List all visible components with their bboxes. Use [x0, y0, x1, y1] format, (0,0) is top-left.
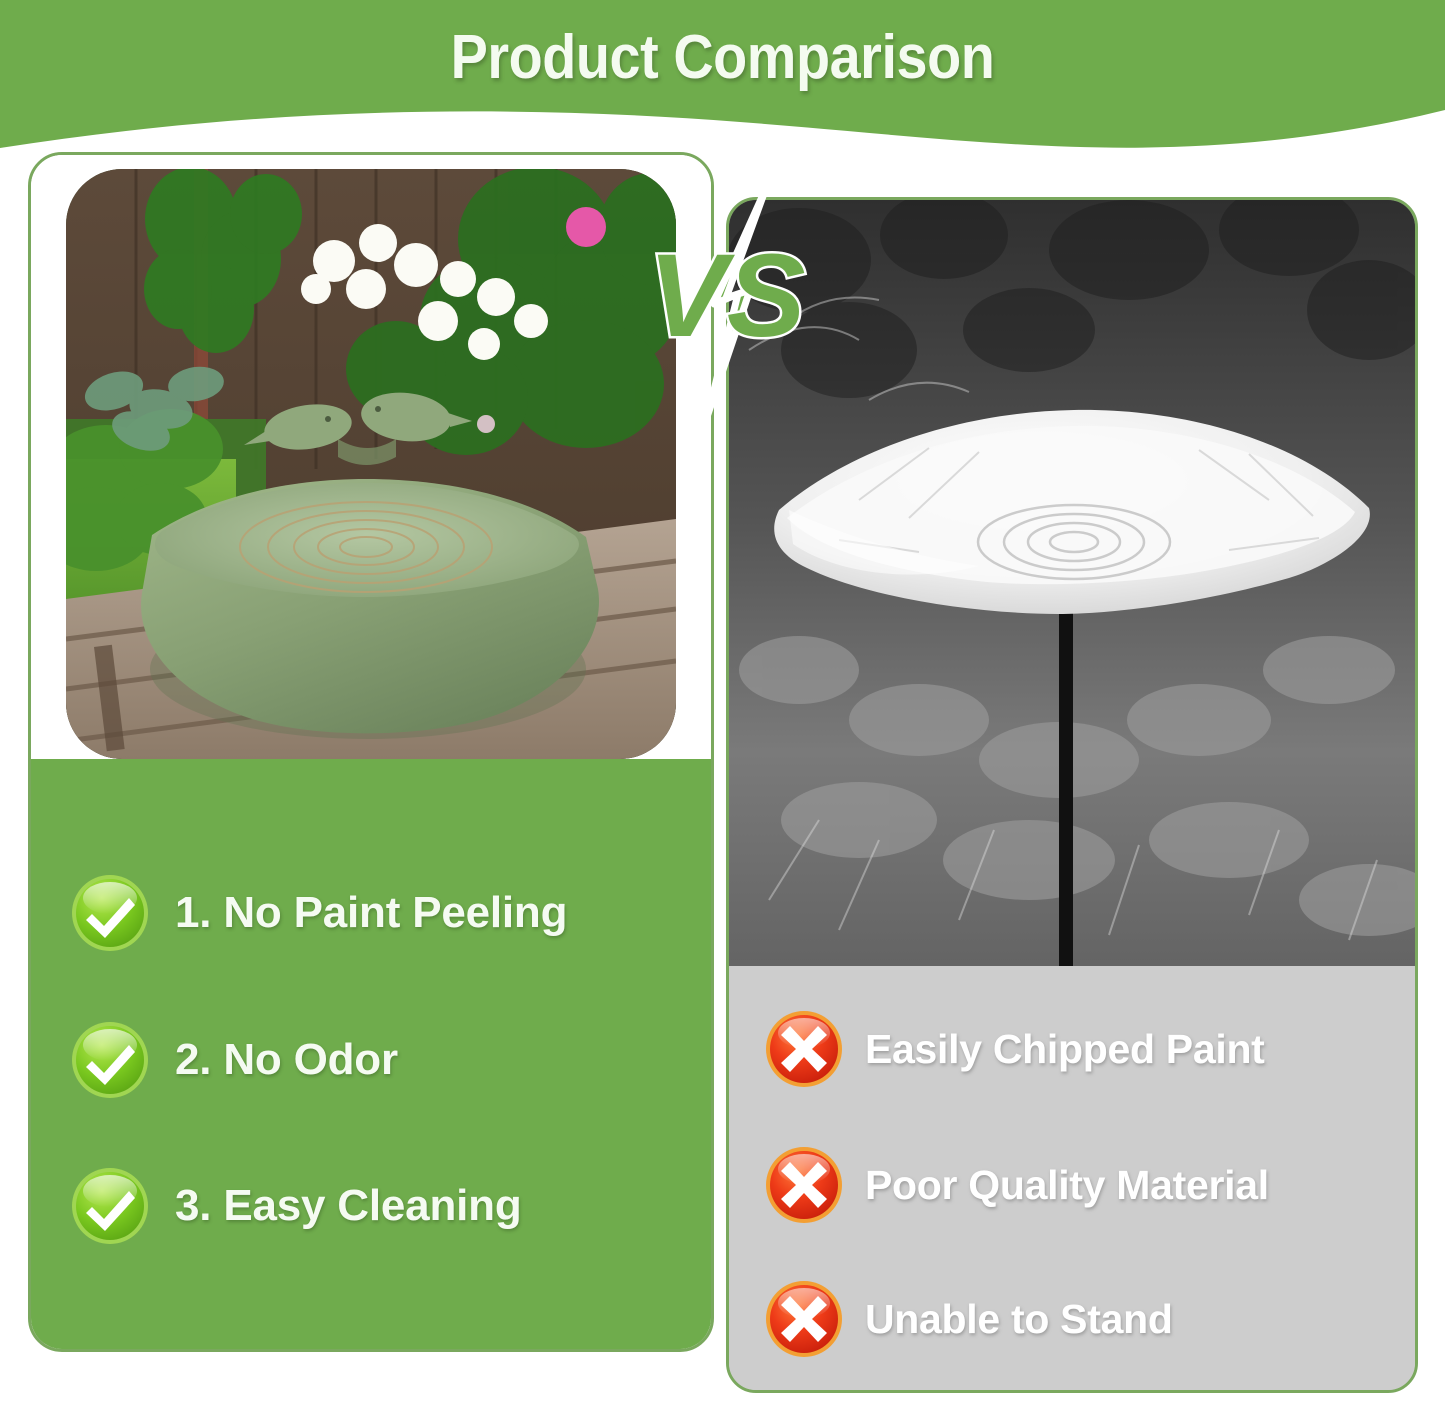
left-product-panel: 1. No Paint Peeling 2. No Odor [28, 152, 714, 1352]
cross-icon [765, 1280, 843, 1358]
versus-badge: VS [634, 186, 824, 416]
left-benefits-list: 1. No Paint Peeling 2. No Odor [31, 759, 711, 1352]
list-item: Easily Chipped Paint [765, 1010, 1265, 1088]
list-item: Unable to Stand [765, 1280, 1173, 1358]
right-drawbacks-list: Easily Chipped Paint Poor Quality Materi… [729, 966, 1415, 1390]
versus-label: VS [648, 230, 805, 362]
check-icon [71, 1021, 149, 1099]
list-item: 2. No Odor [71, 1021, 398, 1099]
list-item-label: Poor Quality Material [865, 1162, 1269, 1209]
list-item-label: 1. No Paint Peeling [175, 888, 567, 938]
list-item: 1. No Paint Peeling [71, 874, 567, 952]
page-title: Product Comparison [72, 22, 1373, 93]
list-item: 3. Easy Cleaning [71, 1167, 522, 1245]
cross-icon [765, 1146, 843, 1224]
check-icon [71, 874, 149, 952]
list-item-label: Easily Chipped Paint [865, 1026, 1265, 1073]
cross-icon [765, 1010, 843, 1088]
list-item-label: Unable to Stand [865, 1296, 1173, 1343]
header-banner: Product Comparison [0, 0, 1445, 160]
list-item-label: 3. Easy Cleaning [175, 1181, 522, 1231]
right-product-panel: Easily Chipped Paint Poor Quality Materi… [726, 197, 1418, 1393]
glass-birdbath-photo [729, 200, 1415, 966]
list-item: Poor Quality Material [765, 1146, 1269, 1224]
list-item-label: 2. No Odor [175, 1035, 398, 1085]
ceramic-birdbath-photo [66, 169, 676, 759]
check-icon [71, 1167, 149, 1245]
left-photo-frame [31, 155, 711, 759]
